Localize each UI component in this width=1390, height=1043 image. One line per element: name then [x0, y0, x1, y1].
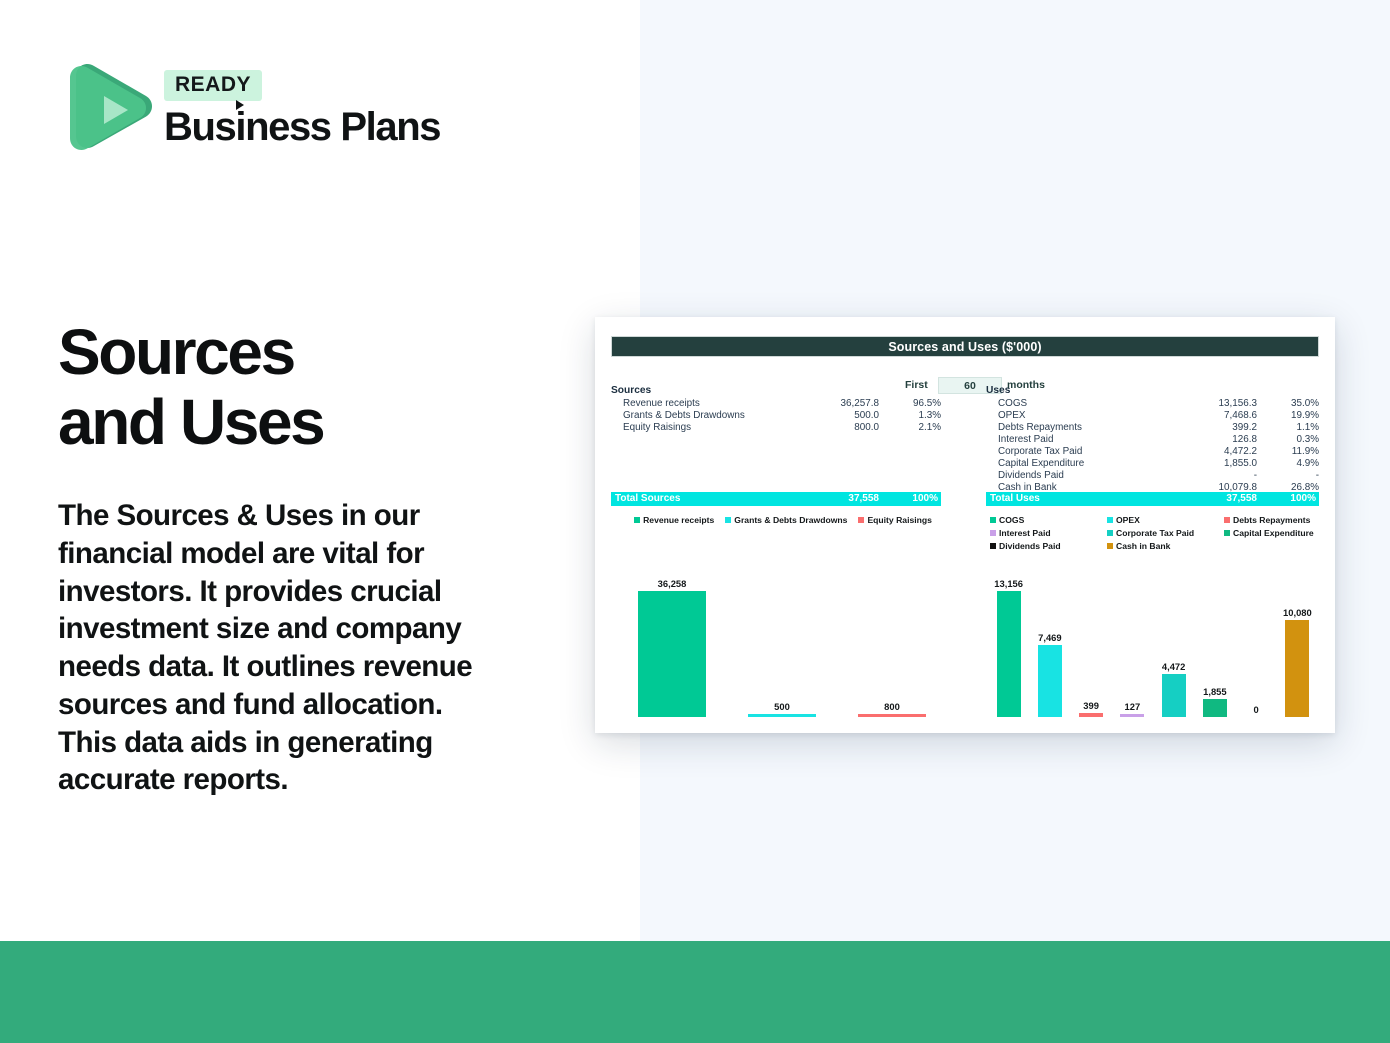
row-percent: 1.3%: [879, 410, 941, 422]
row-label: OPEX: [986, 410, 1165, 422]
table-row: Interest Paid 126.8 0.3%: [986, 434, 1319, 446]
chart-bar[interactable]: [997, 591, 1021, 717]
bar-slot: 36,258: [617, 552, 727, 717]
row-value: 4,472.2: [1165, 446, 1257, 458]
legend-swatch-icon: [1107, 517, 1113, 523]
bar-value-label: 10,080: [1283, 607, 1312, 618]
chart-bar[interactable]: [748, 714, 816, 717]
row-percent: 2.1%: [879, 422, 941, 434]
row-label: Dividends Paid: [986, 470, 1165, 482]
chart-bar[interactable]: [1203, 699, 1227, 717]
legend-item[interactable]: Equity Raisings: [858, 515, 931, 525]
chart-bar[interactable]: [1120, 714, 1144, 717]
spreadsheet-card: Sources and Uses ($'000) First 60 months…: [595, 317, 1335, 733]
bar-value-label: 13,156: [994, 578, 1023, 589]
play-triangle-logo-icon: [58, 58, 154, 158]
bar-value-label: 1,855: [1203, 686, 1226, 697]
total-label: Total Uses: [986, 492, 1165, 506]
legend-item[interactable]: Interest Paid: [990, 528, 1107, 538]
legend-label: Revenue receipts: [643, 515, 714, 525]
legend-item[interactable]: Debts Repayments: [1224, 515, 1323, 525]
chart-bar[interactable]: [1038, 645, 1062, 717]
total-sources-row: Total Sources 37,558 100%: [611, 492, 941, 506]
row-percent: 35.0%: [1257, 398, 1319, 410]
row-percent: 4.9%: [1257, 458, 1319, 470]
bar-slot: 500: [727, 552, 837, 717]
brand-name-text: Business Plans: [164, 105, 440, 149]
legend-label: Interest Paid: [999, 528, 1051, 538]
bar-slot: 4,472: [1153, 552, 1194, 717]
page-title-line-2: and Uses: [58, 388, 578, 458]
play-triangle-icon: [236, 100, 244, 110]
bar-slot: 10,080: [1277, 552, 1318, 717]
row-value: 36,257.8: [787, 398, 879, 410]
legend-swatch-icon: [1224, 530, 1230, 536]
legend-item[interactable]: Corporate Tax Paid: [1107, 528, 1224, 538]
sources-chart-legend: Revenue receiptsGrants & Debts Drawdowns…: [613, 515, 953, 525]
row-value: -: [1165, 470, 1257, 482]
bar-slot: 399: [1071, 552, 1112, 717]
chart-bar[interactable]: [858, 714, 926, 717]
brand-name: Business Plans: [164, 106, 440, 149]
legend-swatch-icon: [990, 530, 996, 536]
total-label: Total Sources: [611, 492, 787, 506]
sources-bar-chart: 36,258500800: [617, 552, 947, 717]
legend-label: Dividends Paid: [999, 541, 1061, 551]
legend-label: OPEX: [1116, 515, 1140, 525]
row-label: Debts Repayments: [986, 422, 1165, 434]
bar-slot: 800: [837, 552, 947, 717]
table-row: Debts Repayments 399.2 1.1%: [986, 422, 1319, 434]
legend-swatch-icon: [990, 543, 996, 549]
row-value: 7,468.6: [1165, 410, 1257, 422]
row-label: Interest Paid: [986, 434, 1165, 446]
chart-bar[interactable]: [1162, 674, 1186, 717]
row-label: Corporate Tax Paid: [986, 446, 1165, 458]
uses-bar-chart: 13,1567,4693991274,4721,855010,080: [988, 552, 1318, 717]
table-row: Equity Raisings 800.0 2.1%: [611, 422, 941, 434]
total-percent: 100%: [1257, 492, 1319, 506]
legend-item[interactable]: Grants & Debts Drawdowns: [725, 515, 847, 525]
row-value: 500.0: [787, 410, 879, 422]
row-percent: -: [1257, 470, 1319, 482]
table-row: Corporate Tax Paid 4,472.2 11.9%: [986, 446, 1319, 458]
legend-label: Grants & Debts Drawdowns: [734, 515, 847, 525]
bar-value-label: 127: [1125, 701, 1141, 712]
legend-swatch-icon: [634, 517, 640, 523]
table-row: Revenue receipts 36,257.8 96.5%: [611, 398, 941, 410]
bar-slot: 7,469: [1029, 552, 1070, 717]
table-row: OPEX 7,468.6 19.9%: [986, 410, 1319, 422]
bar-slot: 127: [1112, 552, 1153, 717]
legend-item[interactable]: Capital Expenditure: [1224, 528, 1323, 538]
bar-slot: 13,156: [988, 552, 1029, 717]
slide-root: READY Business Plans Sources and Uses Th…: [0, 0, 1390, 1043]
row-value: 399.2: [1165, 422, 1257, 434]
table-row: Capital Expenditure 1,855.0 4.9%: [986, 458, 1319, 470]
chart-bar[interactable]: [1079, 713, 1103, 717]
legend-swatch-icon: [1107, 543, 1113, 549]
row-value: 800.0: [787, 422, 879, 434]
row-percent: 0.3%: [1257, 434, 1319, 446]
footer-green-bar: [0, 941, 1390, 1043]
sources-chart-plot: 36,258500800: [617, 552, 947, 717]
row-percent: 11.9%: [1257, 446, 1319, 458]
total-percent: 100%: [879, 492, 941, 506]
uses-header: Uses: [986, 385, 1319, 396]
table-row: Grants & Debts Drawdowns 500.0 1.3%: [611, 410, 941, 422]
legend-item[interactable]: OPEX: [1107, 515, 1224, 525]
bar-value-label: 800: [884, 701, 900, 712]
total-value: 37,558: [787, 492, 879, 506]
row-percent: 1.1%: [1257, 422, 1319, 434]
legend-swatch-icon: [1107, 530, 1113, 536]
bar-value-label: 500: [774, 701, 790, 712]
row-value: 126.8: [1165, 434, 1257, 446]
brand-logo[interactable]: READY Business Plans: [58, 58, 440, 158]
bar-value-label: 399: [1083, 700, 1099, 711]
uses-table: Uses COGS 13,156.3 35.0% OPEX 7,468.6 19…: [986, 385, 1319, 494]
ready-badge: READY: [164, 70, 262, 101]
total-uses-row: Total Uses 37,558 100%: [986, 492, 1319, 506]
page-description: The Sources & Uses in our financial mode…: [58, 497, 498, 799]
uses-chart-plot: 13,1567,4693991274,4721,855010,080: [988, 552, 1318, 717]
sources-table: Sources Revenue receipts 36,257.8 96.5% …: [611, 385, 941, 434]
table-row: COGS 13,156.3 35.0%: [986, 398, 1319, 410]
row-percent: 96.5%: [879, 398, 941, 410]
bar-value-label: 7,469: [1038, 632, 1061, 643]
legend-item[interactable]: Revenue receipts: [634, 515, 714, 525]
legend-item[interactable]: Dividends Paid: [990, 541, 1107, 551]
legend-swatch-icon: [1224, 517, 1230, 523]
spreadsheet-title-bar: Sources and Uses ($'000): [611, 336, 1319, 357]
legend-label: Debts Repayments: [1233, 515, 1310, 525]
legend-swatch-icon: [725, 517, 731, 523]
row-label: Grants & Debts Drawdowns: [611, 410, 787, 422]
row-label: Revenue receipts: [611, 398, 787, 410]
chart-bar[interactable]: [1285, 620, 1309, 717]
legend-label: Corporate Tax Paid: [1116, 528, 1194, 538]
bar-slot: 0: [1236, 552, 1277, 717]
legend-label: Equity Raisings: [867, 515, 931, 525]
bar-slot: 1,855: [1194, 552, 1235, 717]
legend-swatch-icon: [990, 517, 996, 523]
sources-header: Sources: [611, 385, 941, 396]
bar-value-label: 0: [1254, 704, 1259, 715]
legend-label: Cash in Bank: [1116, 541, 1170, 551]
bar-value-label: 36,258: [658, 578, 687, 589]
legend-label: COGS: [999, 515, 1024, 525]
chart-bar[interactable]: [638, 591, 706, 717]
table-row: Dividends Paid - -: [986, 470, 1319, 482]
bar-value-label: 4,472: [1162, 661, 1185, 672]
page-title-line-1: Sources: [58, 318, 578, 388]
brand-wordmark: READY Business Plans: [164, 58, 440, 149]
page-title: Sources and Uses: [58, 318, 578, 458]
row-label: Capital Expenditure: [986, 458, 1165, 470]
row-label: Equity Raisings: [611, 422, 787, 434]
spreadsheet-title: Sources and Uses ($'000): [888, 340, 1041, 354]
row-label: COGS: [986, 398, 1165, 410]
row-percent: 19.9%: [1257, 410, 1319, 422]
uses-chart-legend: COGSOPEXDebts RepaymentsInterest PaidCor…: [986, 515, 1319, 551]
total-value: 37,558: [1165, 492, 1257, 506]
legend-item[interactable]: Cash in Bank: [1107, 541, 1224, 551]
legend-item[interactable]: COGS: [990, 515, 1107, 525]
row-value: 1,855.0: [1165, 458, 1257, 470]
legend-swatch-icon: [858, 517, 864, 523]
row-value: 13,156.3: [1165, 398, 1257, 410]
legend-label: Capital Expenditure: [1233, 528, 1314, 538]
